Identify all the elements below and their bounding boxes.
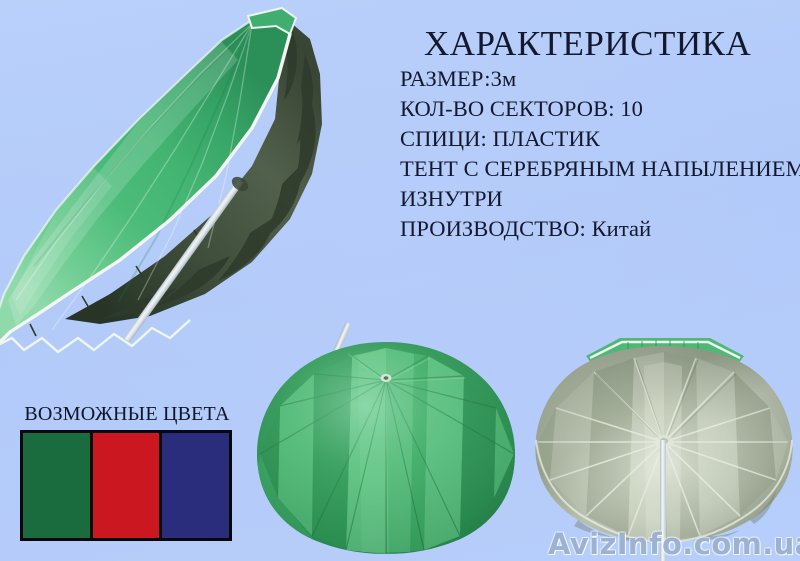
spec-line-ribs: СПИЦИ: ПЛАСТИК: [400, 124, 800, 154]
available-colors-label: ВОЗМОЖНЫЕ ЦВЕТА: [20, 402, 234, 426]
green-canopy: [257, 342, 515, 554]
product-image-canvas: ХАРАКТЕРИСТИКА РАЗМЕР:3м КОЛ-ВО СЕКТОРОВ…: [0, 0, 800, 561]
silver-coated-umbrella-underside: [524, 322, 800, 561]
color-swatch-blue: [162, 433, 229, 538]
spec-line-origin: ПРОИЗВОДСТВО: Китай: [400, 214, 800, 244]
spec-line-size: РАЗМЕР:3м: [400, 64, 800, 94]
color-swatch-box: [20, 430, 232, 541]
large-tilted-green-umbrella: [0, 0, 410, 374]
spec-line-coating-2: ИЗНУТРИ: [400, 184, 800, 214]
color-swatch-red: [93, 433, 163, 538]
spec-line-coating: ТЕНТ С СЕРЕБРЯНЫМ НАПЫЛЕНИЕМ: [400, 154, 800, 184]
spec-line-sectors: КОЛ-ВО СЕКТОРОВ: 10: [400, 94, 800, 124]
color-swatch-green: [23, 433, 93, 538]
spec-title: ХАРАКТЕРИСТИКА: [424, 26, 751, 61]
green-umbrella-top-view: [252, 330, 520, 561]
spec-list: РАЗМЕР:3м КОЛ-ВО СЕКТОРОВ: 10 СПИЦИ: ПЛА…: [400, 64, 800, 244]
